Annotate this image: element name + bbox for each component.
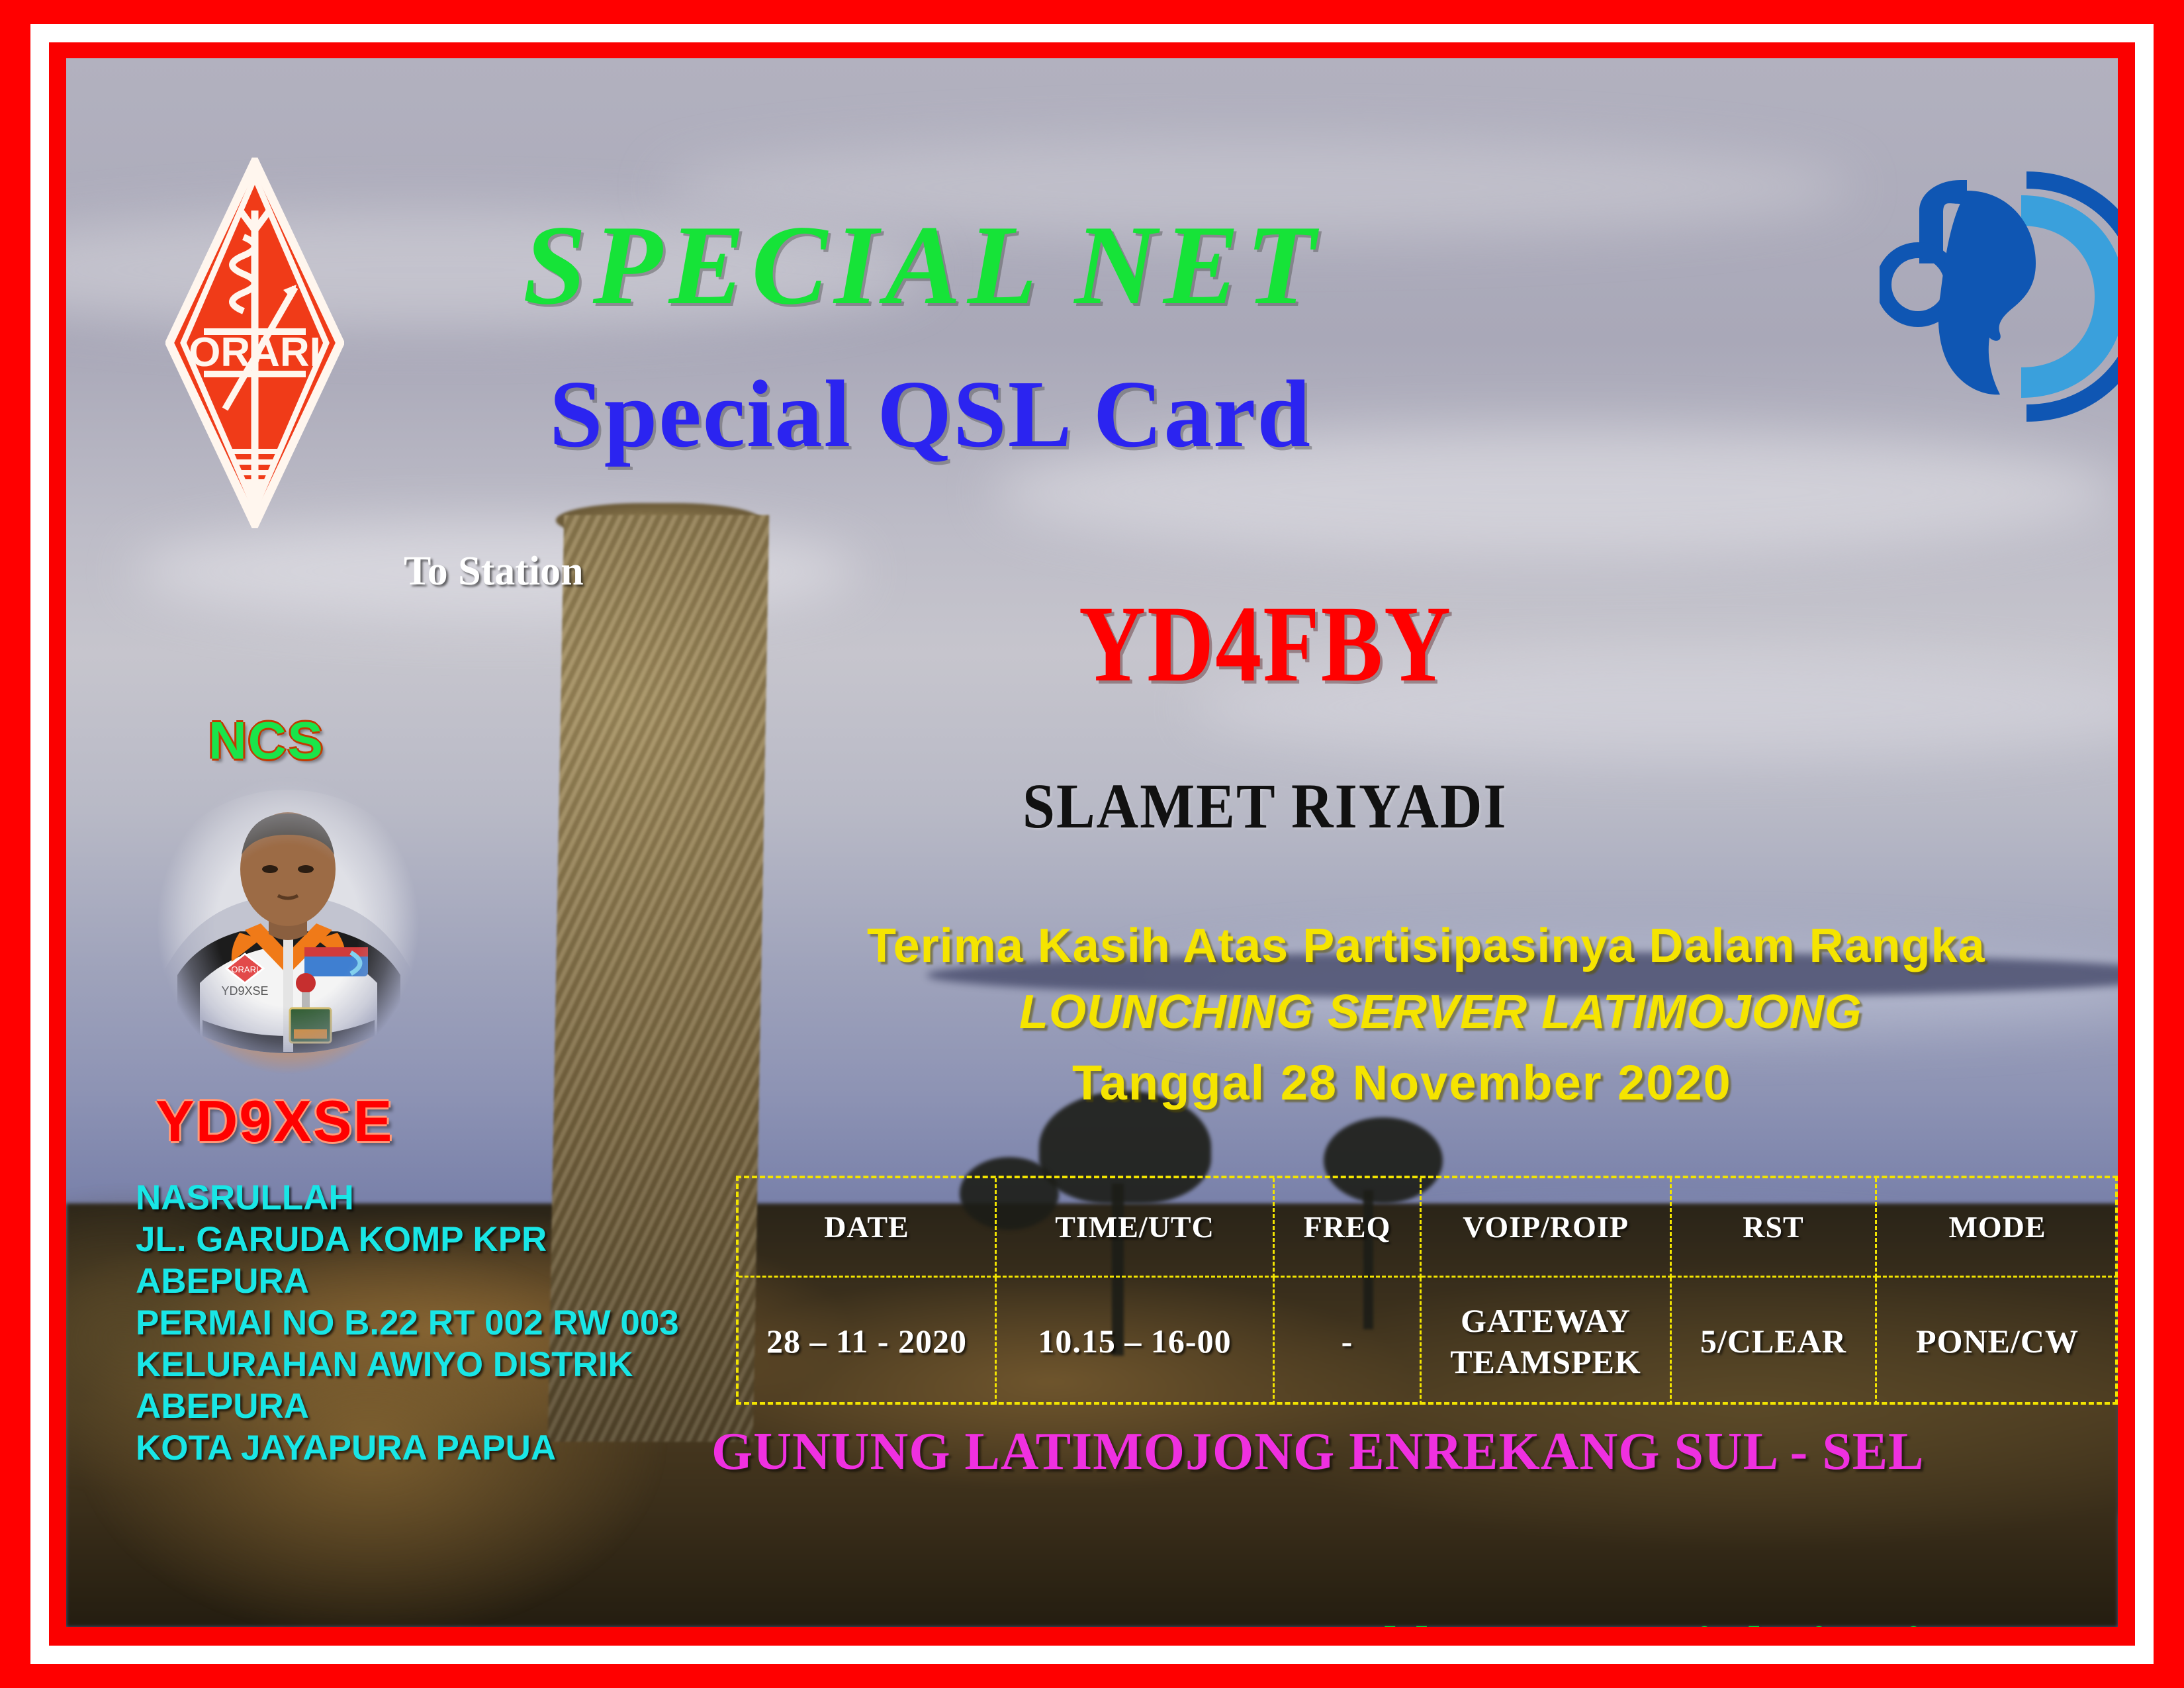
to-station-label: To Station [404, 548, 584, 595]
address-line: JL. GARUDA KOMP KPR [136, 1219, 679, 1260]
table-cell-date: 28 – 11 - 2020 [739, 1278, 997, 1405]
address-line: NASRULLAH [136, 1177, 679, 1219]
qso-details-table: DATE TIME/UTC FREQ VOIP/ROIP RST MODE 28… [736, 1176, 2118, 1405]
ncs-operator-photo: ORARI YD9XSE [139, 776, 437, 1074]
table-header-date: DATE [739, 1178, 997, 1278]
thanks-line-3: Tanggal 28 November 2020 [1072, 1055, 1732, 1111]
radio-headset-waves-icon [1880, 164, 2118, 429]
address-line: KELURAHAN AWIYO DISTRIK [136, 1344, 679, 1385]
table-header-rst: RST [1672, 1178, 1877, 1278]
footer-slogan: "AMATIR RADIO ADALAH PROGRESIVE" [142, 1614, 1285, 1627]
table-header-voip-roip: VOIP/ROIP [1422, 1178, 1672, 1278]
location-caption: GUNUNG LATIMOJONG ENREKANG SUL - SEL [711, 1422, 1925, 1482]
table-cell-freq: - [1275, 1278, 1422, 1405]
card-background-photo: ORARI SPECIAL NET Special QSL Card To St… [66, 58, 2118, 1627]
orari-logo-text: ORARI [189, 330, 321, 375]
table-cell-mode: PONE/CW [1877, 1278, 2118, 1405]
table-cell-voip-roip: GATEWAY TEAMSPEK [1422, 1278, 1672, 1405]
address-line: KOTA JAYAPURA PAPUA [136, 1427, 679, 1469]
ncs-callsign: YD9XSE [156, 1088, 393, 1155]
orari-logo: ORARI [165, 158, 344, 528]
table-cell-rst: 5/CLEAR [1672, 1278, 1877, 1405]
operator-name: SLAMET RIYADI [1023, 770, 1508, 843]
table-header-time: TIME/UTC [997, 1178, 1275, 1278]
table-header-freq: FREQ [1275, 1178, 1422, 1278]
page-subtitle: Special QSL Card [549, 359, 1312, 469]
address-line: PERMAI NO B.22 RT 002 RW 003 [136, 1302, 679, 1344]
footer-web-address: Address : amatir.latimojong.com [1327, 1614, 2118, 1627]
ncs-label: NCS [208, 710, 324, 771]
mailing-address: NASRULLAH JL. GARUDA KOMP KPR ABEPURA PE… [136, 1177, 679, 1469]
thanks-line-2: LOUNCHING SERVER LATIMOJONG [1019, 985, 1862, 1039]
page-title: SPECIAL NET [523, 201, 1322, 331]
address-line: ABEPURA [136, 1385, 679, 1427]
table-header-mode: MODE [1877, 1178, 2118, 1278]
shirt-callsign-text: YD9XSE [221, 984, 268, 998]
table-cell-time: 10.15 – 16-00 [997, 1278, 1275, 1405]
address-line: ABEPURA [136, 1260, 679, 1302]
svg-text:ORARI: ORARI [231, 964, 258, 974]
station-callsign: YD4FBY [1079, 581, 1452, 707]
qsl-card: ORARI SPECIAL NET Special QSL Card To St… [0, 0, 2184, 1688]
thanks-line-1: Terima Kasih Atas Partisipasinya Dalam R… [867, 919, 1985, 973]
